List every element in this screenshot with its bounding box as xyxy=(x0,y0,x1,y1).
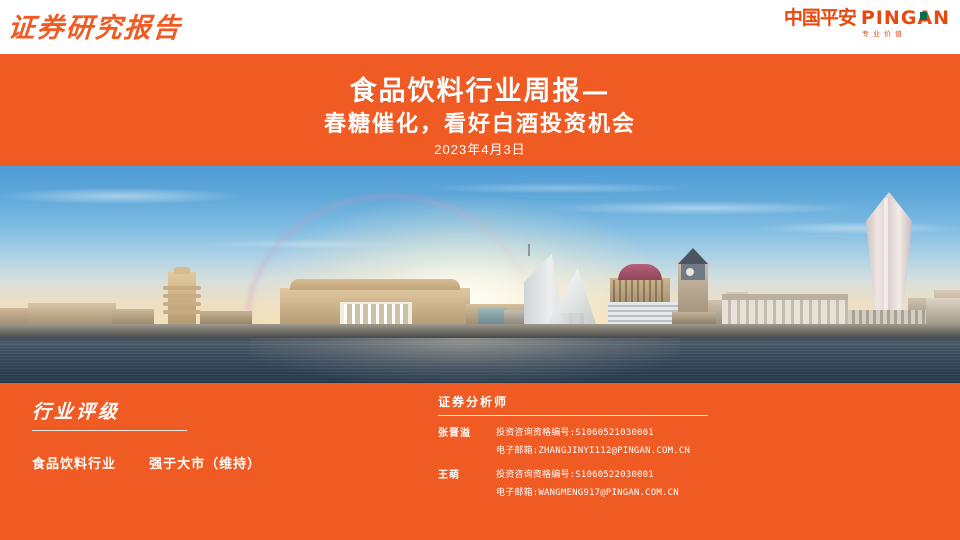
analyst-row: 张晋溢 投资咨询资格编号:S1060521030001 xyxy=(438,427,738,440)
clock-tower-roof xyxy=(678,248,708,264)
analyst-section-heading: 证券分析师 xyxy=(438,393,738,410)
rating-value: 强于大市（维持） xyxy=(149,457,261,472)
water-sun-reflection xyxy=(250,338,680,383)
report-title: 食品饮料行业周报— xyxy=(0,75,960,109)
report-subtitle: 春糖催化，看好白酒投资机会 xyxy=(0,109,960,139)
logo-chinese-text: 中国平安 xyxy=(784,7,856,29)
building-teal-block xyxy=(478,308,506,324)
industry-rating-heading: 行业评级 xyxy=(31,397,120,424)
analyst-row: 王萌 投资咨询资格编号:S1060522030001 xyxy=(438,469,738,482)
industry-rating-section: 行业评级 食品饮料行业 强于大市（维持） xyxy=(32,397,392,472)
industry-rating-row: 食品饮料行业 强于大市（维持） xyxy=(32,453,392,472)
analyst-section: 证券分析师 张晋溢 投资咨询资格编号:S1060521030001 电子邮箱:Z… xyxy=(438,393,738,500)
clock-tower-base xyxy=(672,312,716,324)
report-type-label: 证券研究报告 xyxy=(7,6,184,45)
analyst-name: 王萌 xyxy=(438,469,496,482)
analyst-license: 投资咨询资格编号:S1060521030001 xyxy=(496,427,738,440)
logo-latin-text: PINGAN xyxy=(861,7,950,29)
building-block xyxy=(926,298,960,324)
analyst-section-divider xyxy=(438,415,708,416)
clock-face-icon xyxy=(686,268,694,276)
building-hotel-row xyxy=(722,298,848,324)
logo-a-glyph: A xyxy=(917,7,933,29)
hotel-roofline xyxy=(722,294,848,300)
analyst-email[interactable]: 电子邮箱:ZHANGJINYI112@PINGAN.COM.CN xyxy=(496,445,738,458)
cover-photo-cityscape xyxy=(0,166,960,383)
cover-footer-band: 行业评级 食品饮料行业 强于大市（维持） 证券分析师 张晋溢 投资咨询资格编号:… xyxy=(0,383,960,540)
building-long-block xyxy=(848,310,930,324)
industry-name: 食品饮料行业 xyxy=(32,457,116,472)
analyst-name: 张晋溢 xyxy=(438,427,496,440)
analyst-email[interactable]: 电子邮箱:WANGMENG917@PINGAN.COM.CN xyxy=(496,487,738,500)
skyline-buildings-right xyxy=(0,166,960,338)
building-low-wide xyxy=(608,302,678,324)
analyst-license: 投资咨询资格编号:S1060522030001 xyxy=(496,469,738,482)
pyramid-mast xyxy=(528,244,530,256)
page-header: 证券研究报告 中国平安PINGAN 专业价值 xyxy=(0,0,960,54)
report-date: 2023年4月3日 xyxy=(0,142,960,158)
logo-tagline: 专业价值 xyxy=(784,30,906,39)
cover-title-band: 食品饮料行业周报— 春糖催化，看好白酒投资机会 2023年4月3日 xyxy=(0,54,960,166)
pingan-logo: 中国平安PINGAN 专业价值 xyxy=(784,7,950,39)
logo-wordmark: 中国平安PINGAN xyxy=(784,7,950,29)
industry-rating-divider xyxy=(32,430,187,431)
embankment xyxy=(0,324,960,338)
